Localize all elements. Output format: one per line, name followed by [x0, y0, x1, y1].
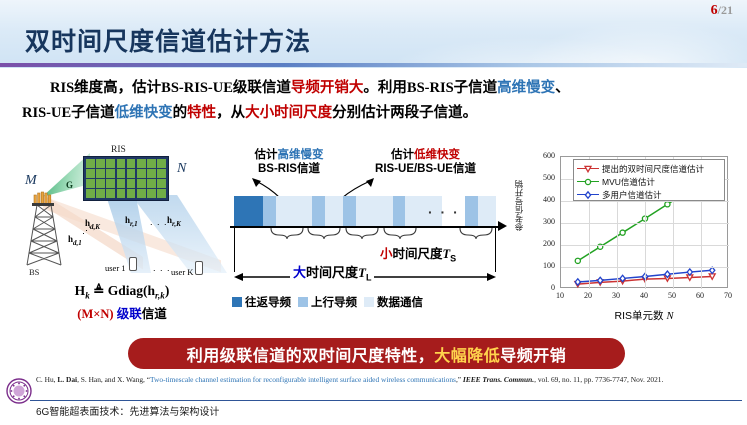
chart-y-tick-label: 500: [529, 173, 555, 182]
chart-legend: 提出的双时间尺度信道估计MVU信道估计多用户信道估计: [573, 159, 725, 201]
chart-x-tick-label: 50: [662, 291, 682, 300]
ris-element-cell: [157, 159, 166, 168]
chart-marker-circle: [575, 258, 580, 263]
frame-block-rt: [234, 196, 263, 226]
channel-G-label: G: [66, 180, 73, 190]
frame-legend-item: 数据通信: [364, 294, 423, 310]
chart-y-tick-label: 300: [529, 217, 555, 226]
frame-block-dt: [478, 196, 496, 226]
small-timescale-highlight: 小: [380, 247, 393, 261]
large-timescale-label: 大时间尺度TL: [290, 262, 374, 283]
ris-element-cell: [127, 179, 136, 188]
body-line1-part-c: 、: [555, 80, 570, 96]
formula-dimension: (M×N): [77, 307, 113, 321]
ris-element-cell: [117, 189, 126, 198]
body-line2-part-b: 的: [173, 105, 188, 121]
frame-legend-swatch: [364, 297, 374, 307]
frame-block-ul: [312, 196, 325, 226]
frame-block-dt: [374, 196, 392, 226]
caption-right-part-b: RIS-UE/BS-UE信道: [375, 163, 476, 175]
ris-element-cell: [127, 189, 136, 198]
frame-block-dt: [325, 196, 343, 226]
frame-legend-label: 数据通信: [377, 294, 423, 310]
chart-legend-line: [577, 168, 599, 169]
hd-ellipsis: ⋰: [82, 225, 91, 236]
ris-element-cell: [117, 159, 126, 168]
footer-divider: [30, 400, 742, 401]
hd1-subscript: d,1: [73, 239, 82, 247]
bs-label: BS: [29, 267, 39, 277]
ris-element-count-label: N: [177, 161, 186, 177]
ris-element-cell: [147, 189, 156, 198]
ris-element-cell: [86, 179, 95, 188]
conclusion-banner: 利用级联信道的双时间尺度特性，大幅降低导频开销: [128, 338, 625, 369]
chart-legend-label: 多用户信道估计: [602, 189, 662, 201]
banner-text-a: 利用级联信道的双时间尺度特性，: [187, 342, 435, 366]
ris-element-cell: [157, 179, 166, 188]
frame-legend: 往返导频上行导频数据通信: [232, 294, 510, 310]
ris-element-cell: [106, 159, 115, 168]
ris-element-cell: [106, 189, 115, 198]
pilot-overhead-chart: 参考信号开销 0100200300400500600 1020304050607…: [515, 148, 743, 330]
large-timescale-symbol: T: [358, 265, 366, 280]
body-line2-part-a: RIS-UE子信道: [22, 105, 115, 121]
chart-y-tick-label: 100: [529, 261, 555, 270]
page-number-current: 6: [711, 3, 718, 18]
body-line1-highlight-2: 高维慢变: [497, 80, 555, 96]
caption-left-highlight: 高维慢变: [278, 149, 324, 161]
hr1-subscript: r,1: [130, 220, 138, 228]
caption-left-part-b: BS-RIS信道: [258, 163, 320, 175]
chart-x-tick-label: 10: [550, 291, 570, 300]
ris-panel-label: RIS: [111, 145, 126, 155]
ris-system-model-figure: RIS N M G BS hd,K ⋰ hd,1 hr,1 . . . hr,K…: [5, 145, 230, 330]
ris-element-cell: [157, 169, 166, 178]
small-timescale-text: 时间尺度: [393, 247, 443, 261]
chart-legend-line: [577, 194, 599, 195]
ris-element-cell: [86, 169, 95, 178]
ris-element-cell: [96, 179, 105, 188]
frame-block-dt: [276, 196, 294, 226]
chart-marker-circle: [620, 230, 625, 235]
frame-block-dt: [405, 196, 423, 226]
footer-text: 6G智能超表面技术：先进算法与架构设计: [36, 403, 219, 418]
body-line2-highlight-1: 低维快变: [115, 105, 173, 121]
small-timescale-label: 小时间尺度TS: [380, 243, 456, 264]
cascaded-channel-formula: Hk ≜ Gdiag(hr,k): [37, 283, 207, 301]
chart-x-tick-label: 60: [690, 291, 710, 300]
frame-block-dt: [294, 196, 312, 226]
ris-element-cell: [86, 159, 95, 168]
chart-marker-diamond: [710, 267, 715, 273]
citation-journal: IEEE Trans. Commun.: [463, 375, 534, 384]
frame-ellipsis: · · ·: [428, 204, 460, 220]
citation-after-title: ,”: [456, 375, 463, 384]
body-line2-part-c: ，从: [216, 105, 245, 121]
caption-right-part-a: 估计: [391, 149, 414, 161]
citation-authors-c: , S. Han, and X. Wang, “: [77, 375, 150, 384]
citation-author-highlight: L. Dai: [57, 375, 77, 384]
formula-caption-highlight: 级联: [117, 307, 142, 321]
chart-y-tick-label: 600: [529, 151, 555, 160]
chart-legend-line: [577, 181, 599, 182]
two-timescale-frame-figure: 估计高维慢变 BS-RIS信道 估计低维快变 RIS-UE/BS-UE信道 · …: [230, 148, 510, 328]
ris-element-cell: [127, 159, 136, 168]
frame-legend-item: 上行导频: [298, 294, 357, 310]
ris-element-cell: [117, 179, 126, 188]
ris-element-cell: [96, 189, 105, 198]
banner-highlight: 大幅降低: [434, 342, 500, 366]
chart-x-tick-label: 30: [606, 291, 626, 300]
chart-x-tick-label: 70: [718, 291, 738, 300]
ris-element-cell: [147, 169, 156, 178]
users-ellipsis: . . .: [153, 263, 171, 273]
ris-element-cell: [147, 179, 156, 188]
frame-legend-label: 往返导频: [245, 294, 291, 310]
chart-y-tick-label: 400: [529, 195, 555, 204]
title-underline-rule: [0, 63, 747, 67]
caption-right-highlight: 低维快变: [414, 149, 460, 161]
large-timescale-text: 时间尺度: [306, 265, 358, 280]
chart-marker-diamond: [585, 192, 590, 198]
ris-element-cell: [137, 169, 146, 178]
channel-hrK-label: hr,K: [167, 215, 181, 228]
channel-hr1-label: hr,1: [125, 215, 138, 228]
ris-element-cell: [147, 159, 156, 168]
chart-x-axis-label: RIS单元数 N: [560, 308, 728, 323]
base-station-tower-icon: [23, 189, 65, 267]
chart-x-tick-label: 20: [578, 291, 598, 300]
chart-x-axis-label-text: RIS单元数: [615, 310, 667, 322]
ris-element-cell: [96, 159, 105, 168]
body-line2-highlight-2: 特性: [187, 105, 216, 121]
small-timescale-braces: [270, 227, 500, 240]
chart-legend-marker: [583, 164, 593, 174]
frame-block-dt: [356, 196, 374, 226]
frame-legend-swatch: [298, 297, 308, 307]
banner-text-b: 导频开销: [500, 342, 566, 366]
citation-authors-a: C. Hu,: [36, 375, 57, 384]
large-timescale-subscript: L: [366, 273, 372, 283]
chart-legend-label: MVU信道估计: [602, 176, 655, 188]
userK-phone-icon: [195, 261, 203, 275]
bs-antenna-count-label: M: [25, 173, 37, 189]
chart-legend-marker: [583, 190, 593, 200]
body-line1-part-b: 。利用BS-RIS子信道: [363, 80, 497, 96]
ris-element-cell: [106, 169, 115, 178]
ris-element-grid: [86, 159, 166, 198]
chart-legend-item: MVU信道估计: [577, 175, 721, 188]
user1-phone-icon: [129, 257, 137, 271]
chart-marker-circle: [585, 179, 590, 184]
ris-element-cell: [157, 189, 166, 198]
chart-marker-triangle-down: [585, 166, 591, 171]
user1-label: user 1: [105, 263, 126, 273]
chart-marker-diamond: [687, 269, 692, 275]
ris-element-cell: [96, 169, 105, 178]
page-number-total: /21: [718, 3, 733, 17]
body-paragraph: RIS维度高，估计BS-RIS-UE级联信道导频开销大。利用BS-RIS子信道高…: [22, 76, 732, 126]
chart-legend-marker: [583, 177, 593, 187]
channel-hd1-label: hd,1: [68, 234, 82, 247]
caption-ris-ue-estimation: 估计低维快变 RIS-UE/BS-UE信道: [348, 148, 503, 177]
hrK-subscript: r,K: [172, 220, 181, 228]
university-logo: [6, 378, 32, 404]
chart-legend-label: 提出的双时间尺度信道估计: [602, 163, 704, 175]
cascaded-channel-caption: (M×N) 级联信道: [37, 303, 207, 322]
body-line2-part-d: 分别估计两段子信道。: [332, 105, 477, 121]
hdK-subscript: d,K: [90, 223, 100, 231]
frame-legend-item: 往返导频: [232, 294, 291, 310]
caption-bs-ris-estimation: 估计高维慢变 BS-RIS信道: [234, 148, 344, 177]
body-line2-highlight-3: 大小时间尺度: [245, 105, 332, 121]
chart-legend-item: 提出的双时间尺度信道估计: [577, 162, 721, 175]
userK-label: user K: [171, 267, 193, 277]
large-timescale-highlight: 大: [293, 265, 306, 280]
ris-element-cell: [106, 179, 115, 188]
hr-ellipsis: . . .: [150, 217, 168, 227]
chart-x-axis-symbol: N: [666, 311, 673, 322]
frame-block-ul: [343, 196, 356, 226]
body-line1-part-a: RIS维度高，估计BS-RIS-UE级联信道: [50, 80, 291, 96]
page-title: 双时间尺度信道估计方法: [25, 22, 311, 58]
large-timescale-right-tick: [495, 226, 496, 272]
body-line1-highlight-1: 导频开销大: [291, 80, 364, 96]
ris-element-cell: [117, 169, 126, 178]
citation-volume-info: , vol. 69, no. 11, pp. 7736-7747, Nov. 2…: [534, 375, 663, 384]
chart-marker-triangle-down: [709, 274, 715, 279]
chart-marker-circle: [665, 202, 670, 207]
small-timescale-subscript: S: [450, 254, 456, 264]
frame-legend-label: 上行导频: [311, 294, 357, 310]
citation-paper-title: Two-timescale channel estimation for rec…: [150, 375, 456, 384]
ris-element-cell: [137, 189, 146, 198]
ris-element-cell: [86, 189, 95, 198]
ris-element-cell: [137, 179, 146, 188]
formula-caption-tail: 信道: [142, 307, 167, 321]
citation-reference: C. Hu, L. Dai, S. Han, and X. Wang, “Two…: [36, 374, 742, 385]
ris-element-cell: [127, 169, 136, 178]
frame-legend-swatch: [232, 297, 242, 307]
chart-y-tick-label: 200: [529, 239, 555, 248]
chart-legend-item: 多用户信道估计: [577, 188, 721, 201]
page-number: 6/21: [711, 3, 733, 19]
ris-element-cell: [137, 159, 146, 168]
chart-x-tick-label: 40: [634, 291, 654, 300]
frame-block-ul: [263, 196, 276, 226]
chart-y-axis-label: 参考信号开销: [513, 180, 527, 231]
large-timescale-left-tick: [234, 226, 235, 272]
frame-block-ul: [393, 196, 406, 226]
frame-block-ul: [465, 196, 478, 226]
caption-left-part-a: 估计: [255, 149, 278, 161]
